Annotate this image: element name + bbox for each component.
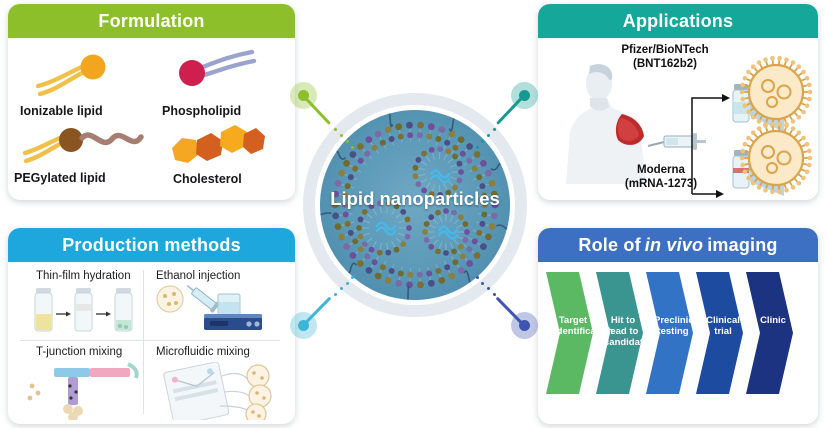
vaccine-label-moderna: Moderna (mRNA-1273) [596,164,726,191]
cholesterol-icon [166,120,266,170]
production-divider-horizontal [20,340,280,341]
lnp-core [320,110,510,300]
pipeline-stage-label-3: Clinical trial [704,315,742,337]
panel-applications-body: Pfizer/BioNTech (BNT162b2) Moderna (mRNA… [538,38,818,200]
vials-icon [32,286,140,336]
ionizable-lipid-icon [34,50,126,102]
panel-formulation: Formulation Ionizable lipid Phospholipid [8,4,295,200]
pipeline-chevrons-svg [538,262,804,424]
connector-imaging-dot [519,320,530,331]
pipeline-stage-4[interactable] [746,272,793,394]
connector-formulation-pip [346,140,349,143]
panel-formulation-header: Formulation [8,4,295,38]
phospholipid-icon [168,48,260,100]
formulation-item-label-2: PEGylated lipid [14,171,106,185]
t-junction-icon [24,362,142,420]
virus-particle-icon-bottom [734,116,818,200]
pipeline-stage-label-0: Target identification [554,315,592,337]
panel-imaging-title-pre: Role of [578,235,640,256]
panel-imaging-title-post: imaging [707,235,777,256]
stirrer-syringe-icon [152,284,274,338]
vaccine-maker-0: Pfizer/BioNTech [600,44,730,58]
figure-canvas: Lipid nanoparticles Formulation Ionizabl… [0,0,825,428]
panel-applications-header: Applications [538,4,818,38]
panel-imaging: Role of in vivo imaging Target identific… [538,228,818,424]
connector-production-dot [298,320,309,331]
vaccine-maker-1: Moderna [596,164,726,178]
panel-imaging-title-italic: in vivo [641,235,707,256]
production-method-label-3: Microfluidic mixing [156,346,250,358]
production-method-label-0: Thin-film hydration [36,270,131,282]
production-method-label-2: T-junction mixing [36,346,122,358]
panel-production: Production methods Thin-film hydration [8,228,295,424]
formulation-item-label-1: Phospholipid [162,104,241,118]
panel-applications-title: Applications [623,11,733,32]
connector-applications-pip [476,146,479,149]
panel-formulation-body: Ionizable lipid Phospholipid PEGylated l… [8,38,295,200]
connector-formulation-pip [340,134,343,137]
connector-imaging-pip [476,276,479,279]
vaccine-code-1: (mRNA-1273) [596,178,726,192]
vaccine-code-0: (BNT162b2) [600,58,730,72]
panel-production-body: Thin-film hydration [8,262,295,424]
panel-formulation-title: Formulation [98,11,204,32]
pegylated-lipid-icon [22,121,148,171]
production-divider-vertical [143,270,144,414]
panel-applications: Applications [538,4,818,200]
connector-applications-pip [493,128,496,131]
panel-imaging-header: Role of in vivo imaging [538,228,818,262]
vaccine-label-pfizer: Pfizer/BioNTech (BNT162b2) [600,44,730,71]
panel-imaging-body: Target identificationHit to lead to cand… [538,262,818,424]
pipeline-stage-label-1: Hit to lead to candidate [604,315,642,348]
formulation-item-label-0: Ionizable lipid [20,104,103,118]
pipeline-stage-label-4: Clinic [754,315,792,326]
connector-production-pip [346,282,349,285]
pipeline-stage-label-2: Preclinical testing [654,315,692,337]
lnp-lipid-bilayer-svg [320,110,510,300]
production-method-label-1: Ethanol injection [156,270,240,282]
connector-applications-dot [519,90,530,101]
formulation-item-label-3: Cholesterol [173,172,242,186]
microfluidic-chip-icon [154,362,276,420]
development-pipeline: Target identificationHit to lead to cand… [538,262,818,424]
panel-production-header: Production methods [8,228,295,262]
panel-production-title: Production methods [62,235,241,256]
connector-imaging-pip [493,293,496,296]
connector-formulation-dot [298,90,309,101]
